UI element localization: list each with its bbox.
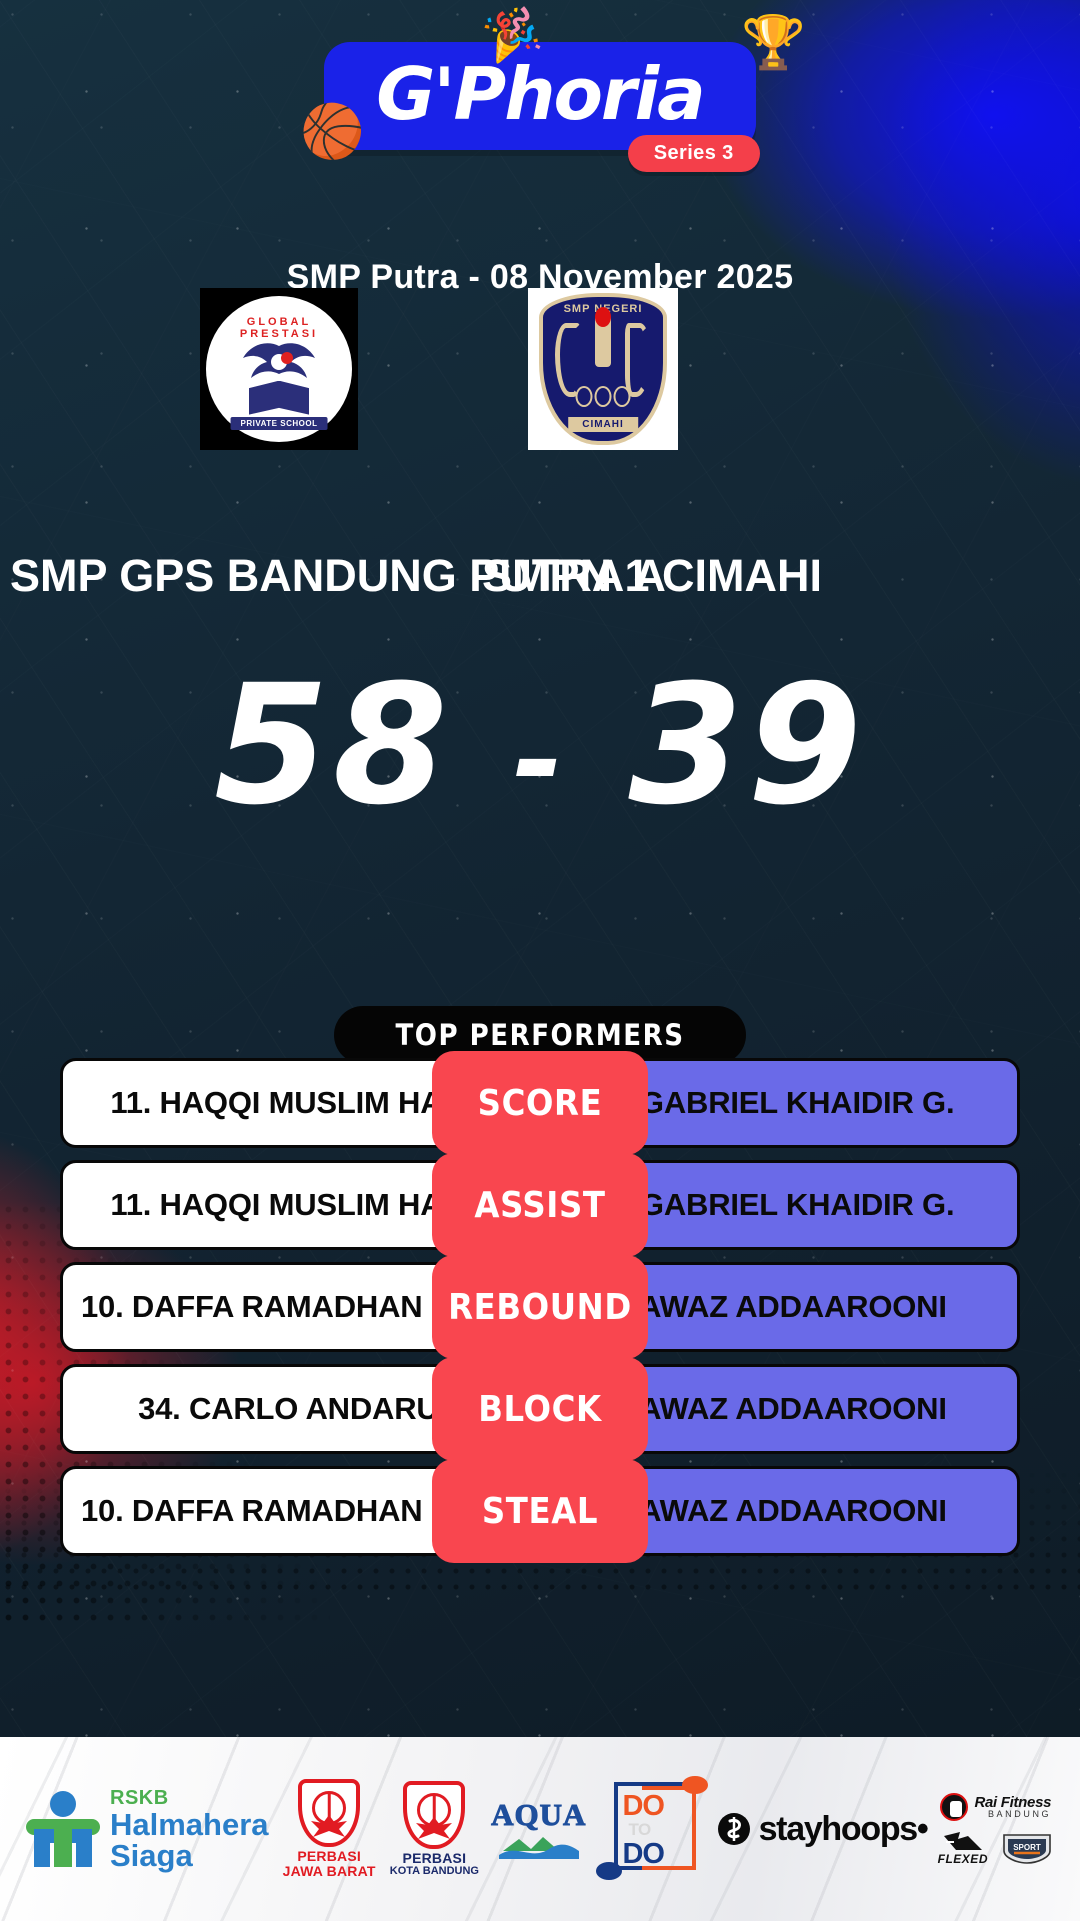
away-team-name: SMPN 1 CIMAHI (482, 548, 822, 604)
rskb-line2: Halmahera (110, 1809, 269, 1840)
sponsor-rskb-halmahera-siaga: RSKB Halmahera Siaga (26, 1788, 269, 1871)
flexed-wordmark: FLEXED (938, 1852, 988, 1866)
final-score: 58 - 39 (0, 660, 1080, 847)
brand-plate: G'Phoria (324, 42, 755, 150)
perbasi-jabar-wordmark: PERBASI JAWA BARAT (283, 1849, 376, 1878)
perbasi-shield-icon (298, 1779, 360, 1847)
svg-text:SPORT: SPORT (1013, 1843, 1041, 1852)
sponsor-rai-fitness: Rai Fitness BANDUNG (940, 1793, 1051, 1821)
dodo-line2: TO (628, 1820, 650, 1840)
team-names: SMP GPS BANDUNG PUTRA A SMPN 1 CIMAHI (0, 548, 1080, 604)
dodo-line3: DO (622, 1838, 664, 1871)
flame-icon (595, 307, 611, 327)
dodo-pin-orange-icon (682, 1776, 708, 1794)
perbasi-bandung-wordmark: PERBASI KOTA BANDUNG (390, 1851, 479, 1877)
table-row: 11. HAQQI MUSLIM HABIBI ASSIST 1. M. GAB… (0, 1160, 1080, 1250)
sportify-logo-icon: SPORT (1000, 1831, 1054, 1865)
stat-category-label: STEAL (482, 1491, 598, 1532)
away-logo-shield: SMP NEGERI CIMAHI (539, 293, 667, 445)
away-score: 39 (628, 649, 866, 841)
rskb-line3: Siaga (110, 1840, 269, 1871)
sponsor-right-cluster: Rai Fitness BANDUNG FLEXED SPORT (938, 1793, 1054, 1866)
sponsor-do-to-do: DO TO DO (598, 1776, 704, 1882)
perbasi-jabar-line1: PERBASI (283, 1849, 376, 1864)
rai-fitness-line1: Rai Fitness (974, 1795, 1051, 1810)
rskb-wordmark: RSKB Halmahera Siaga (110, 1788, 269, 1871)
series-badge: Series 3 (628, 135, 760, 172)
scoreboard-poster: G'Phoria 🏀 🎉 🏆 Series 3 SMP Putra - 08 N… (0, 0, 1080, 1921)
score-separator: - (513, 692, 567, 831)
stat-category-chip: ASSIST (432, 1153, 648, 1257)
flexed-mark-icon (942, 1830, 984, 1852)
sponsor-bar: RSKB Halmahera Siaga PERBASI JAWA BARAT (0, 1737, 1080, 1921)
dodo-line1: DO (622, 1790, 664, 1823)
rskb-figure-icon (26, 1791, 100, 1867)
brand-header: G'Phoria 🏀 🎉 🏆 Series 3 (0, 42, 1080, 150)
rings-icon (576, 386, 631, 407)
home-logo-arc-text: GLOBAL PRESTASI (206, 316, 352, 340)
sponsor-perbasi-kota-bandung: PERBASI KOTA BANDUNG (390, 1781, 479, 1877)
away-team-logo: SMP NEGERI CIMAHI (528, 288, 678, 450)
table-row: 10. DAFFA RAMADHAN RIZKIA REBOUND 19. FA… (0, 1262, 1080, 1352)
stayhoops-monogram-icon (717, 1812, 751, 1846)
aqua-wordmark: AQUA (491, 1797, 586, 1833)
basketball-icon: 🏀 (300, 101, 365, 162)
stayhoops-dot: • (917, 1810, 928, 1848)
table-row: 34. CARLO ANDARU S. BLOCK 19. FAWAZ ADDA… (0, 1364, 1080, 1454)
stat-category-chip: SCORE (432, 1051, 648, 1155)
home-score: 58 (214, 649, 452, 841)
home-logo-circle: GLOBAL PRESTASI PRIVATE SCHOOL (206, 296, 352, 442)
stat-category-chip: STEAL (432, 1459, 648, 1563)
eagle-icon (307, 1813, 351, 1839)
top-performers-list: 11. HAQQI MUSLIM HABIBI SCORE 1. M. GABR… (0, 1058, 1080, 1568)
stat-category-label: BLOCK (478, 1389, 601, 1430)
perbasi-jabar-line2: JAWA BARAT (283, 1864, 376, 1879)
perbasi-bandung-line1: PERBASI (390, 1851, 479, 1866)
stat-category-label: SCORE (478, 1083, 603, 1124)
dodo-pin-navy-icon (596, 1862, 622, 1880)
sponsor-aqua: AQUA (491, 1797, 586, 1861)
brand-logo: G'Phoria 🏀 🎉 🏆 Series 3 (324, 42, 755, 150)
stat-category-chip: BLOCK (432, 1357, 648, 1461)
stat-category-label: ASSIST (474, 1185, 605, 1226)
stayhoops-wordmark: stayhoops• (759, 1810, 928, 1849)
stat-category-chip: REBOUND (432, 1255, 648, 1359)
home-team-logo: GLOBAL PRESTASI PRIVATE SCHOOL (200, 288, 358, 450)
stat-category-label: REBOUND (448, 1287, 632, 1328)
perbasi-shield-icon (403, 1781, 465, 1849)
brand-title: G'Phoria (376, 58, 703, 130)
eagle-icon (412, 1815, 456, 1841)
stayhoops-text: stayhoops (759, 1810, 917, 1848)
sponsor-stayhoops: stayhoops• (717, 1810, 928, 1849)
rai-fitness-badge-icon (940, 1793, 968, 1821)
home-logo-ribbon: PRIVATE SCHOOL (231, 417, 328, 430)
away-logo-banner: CIMAHI (568, 417, 638, 432)
rai-fitness-wordmark: Rai Fitness BANDUNG (974, 1795, 1051, 1819)
sponsor-flexed: FLEXED (938, 1830, 988, 1866)
perbasi-bandung-line2: KOTA BANDUNG (390, 1866, 479, 1878)
team-logos: GLOBAL PRESTASI PRIVATE SCHOOL SMP NEGER… (0, 288, 1080, 468)
table-row: 10. DAFFA RAMADHAN RIZKIA STEAL 19. FAWA… (0, 1466, 1080, 1556)
wave-mountain-icon (497, 1835, 581, 1861)
sponsor-small-row: FLEXED SPORT (938, 1830, 1054, 1866)
table-row: 11. HAQQI MUSLIM HABIBI SCORE 1. M. GABR… (0, 1058, 1080, 1148)
trophy-icon: 🏆 (741, 12, 806, 73)
rskb-line1: RSKB (110, 1787, 169, 1809)
sponsor-perbasi-jawa-barat: PERBASI JAWA BARAT (283, 1779, 376, 1878)
rai-fitness-line2: BANDUNG (974, 1810, 1051, 1819)
